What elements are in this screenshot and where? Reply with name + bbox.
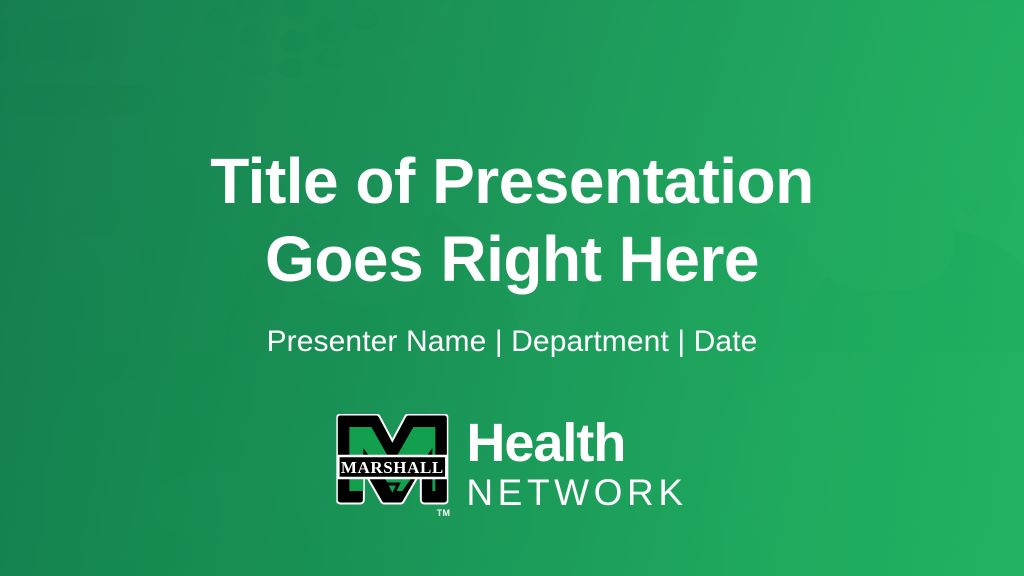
trademark-icon: TM (437, 508, 451, 518)
title-block: Title of Presentation Goes Right Here (0, 142, 1024, 298)
page-title-line-1: Title of Presentation (0, 142, 1024, 220)
marshall-banner-text: MARSHALL (341, 458, 444, 477)
presentation-title-slide: Title of Presentation Goes Right Here Pr… (0, 0, 1024, 576)
presenter-subtitle: Presenter Name | Department | Date (267, 324, 758, 360)
marshall-health-network-logo: MARSHALL TM Health NETWORK (336, 414, 687, 518)
marshall-m-icon: MARSHALL TM (336, 414, 448, 518)
logo-word-health: Health (466, 416, 625, 470)
page-title-line-2: Goes Right Here (0, 220, 1024, 298)
logo-word-network: NETWORK (466, 472, 687, 514)
logo-wordmark: Health NETWORK (466, 416, 687, 514)
